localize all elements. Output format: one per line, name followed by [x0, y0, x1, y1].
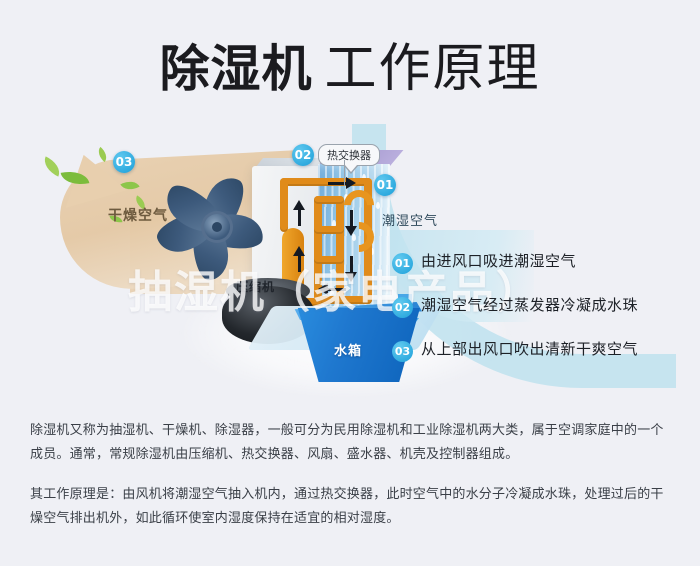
step-number: 02 [392, 297, 413, 318]
humid-air-label: 潮湿空气 [382, 210, 438, 229]
heat-exchanger-callout-tail [344, 160, 345, 186]
steps-list: 01 由进风口吸进潮湿空气 02 潮湿空气经过蒸发器冷凝成水珠 03 从上部出风… [392, 252, 692, 384]
compressor-label: 压缩机 [236, 278, 275, 295]
step-text: 由进风口吸进潮湿空气 [421, 252, 576, 272]
water-tank-label: 水箱 [334, 340, 362, 359]
dry-air-label: 干燥空气 [108, 205, 168, 225]
badge-heat-exchanger: 02 [292, 144, 314, 166]
infographic-page: 除湿机工作原理 [0, 0, 700, 566]
list-item: 03 从上部出风口吹出清新干爽空气 [392, 340, 692, 362]
body-copy: 除湿机又称为抽湿机、干燥机、除湿器，一般可分为民用除湿机和工业除湿机两大类，属于… [30, 418, 670, 530]
page-title-primary: 除湿机 [159, 40, 312, 98]
page-title: 除湿机工作原理 [0, 26, 700, 101]
fan-assembly [160, 170, 272, 280]
badge-dry-air: 03 [113, 151, 135, 173]
list-item: 01 由进风口吸进潮湿空气 [392, 252, 692, 274]
fan-hub [204, 214, 230, 240]
step-text: 从上部出风口吹出清新干爽空气 [421, 340, 638, 360]
badge-humid-air: 01 [374, 174, 396, 196]
list-item: 02 潮湿空气经过蒸发器冷凝成水珠 [392, 296, 692, 318]
paragraph-1: 除湿机又称为抽湿机、干燥机、除湿器，一般可分为民用除湿机和工业除湿机两大类，属于… [30, 418, 670, 466]
step-number: 01 [392, 253, 413, 274]
step-text: 潮湿空气经过蒸发器冷凝成水珠 [421, 296, 638, 316]
page-title-secondary: 工作原理 [324, 40, 540, 98]
heat-exchanger-callout: 热交换器 [318, 144, 380, 166]
paragraph-2: 其工作原理是：由风机将潮湿空气抽入机内，通过热交换器，此时空气中的水分子冷凝成水… [30, 482, 670, 530]
step-number: 03 [392, 341, 413, 362]
